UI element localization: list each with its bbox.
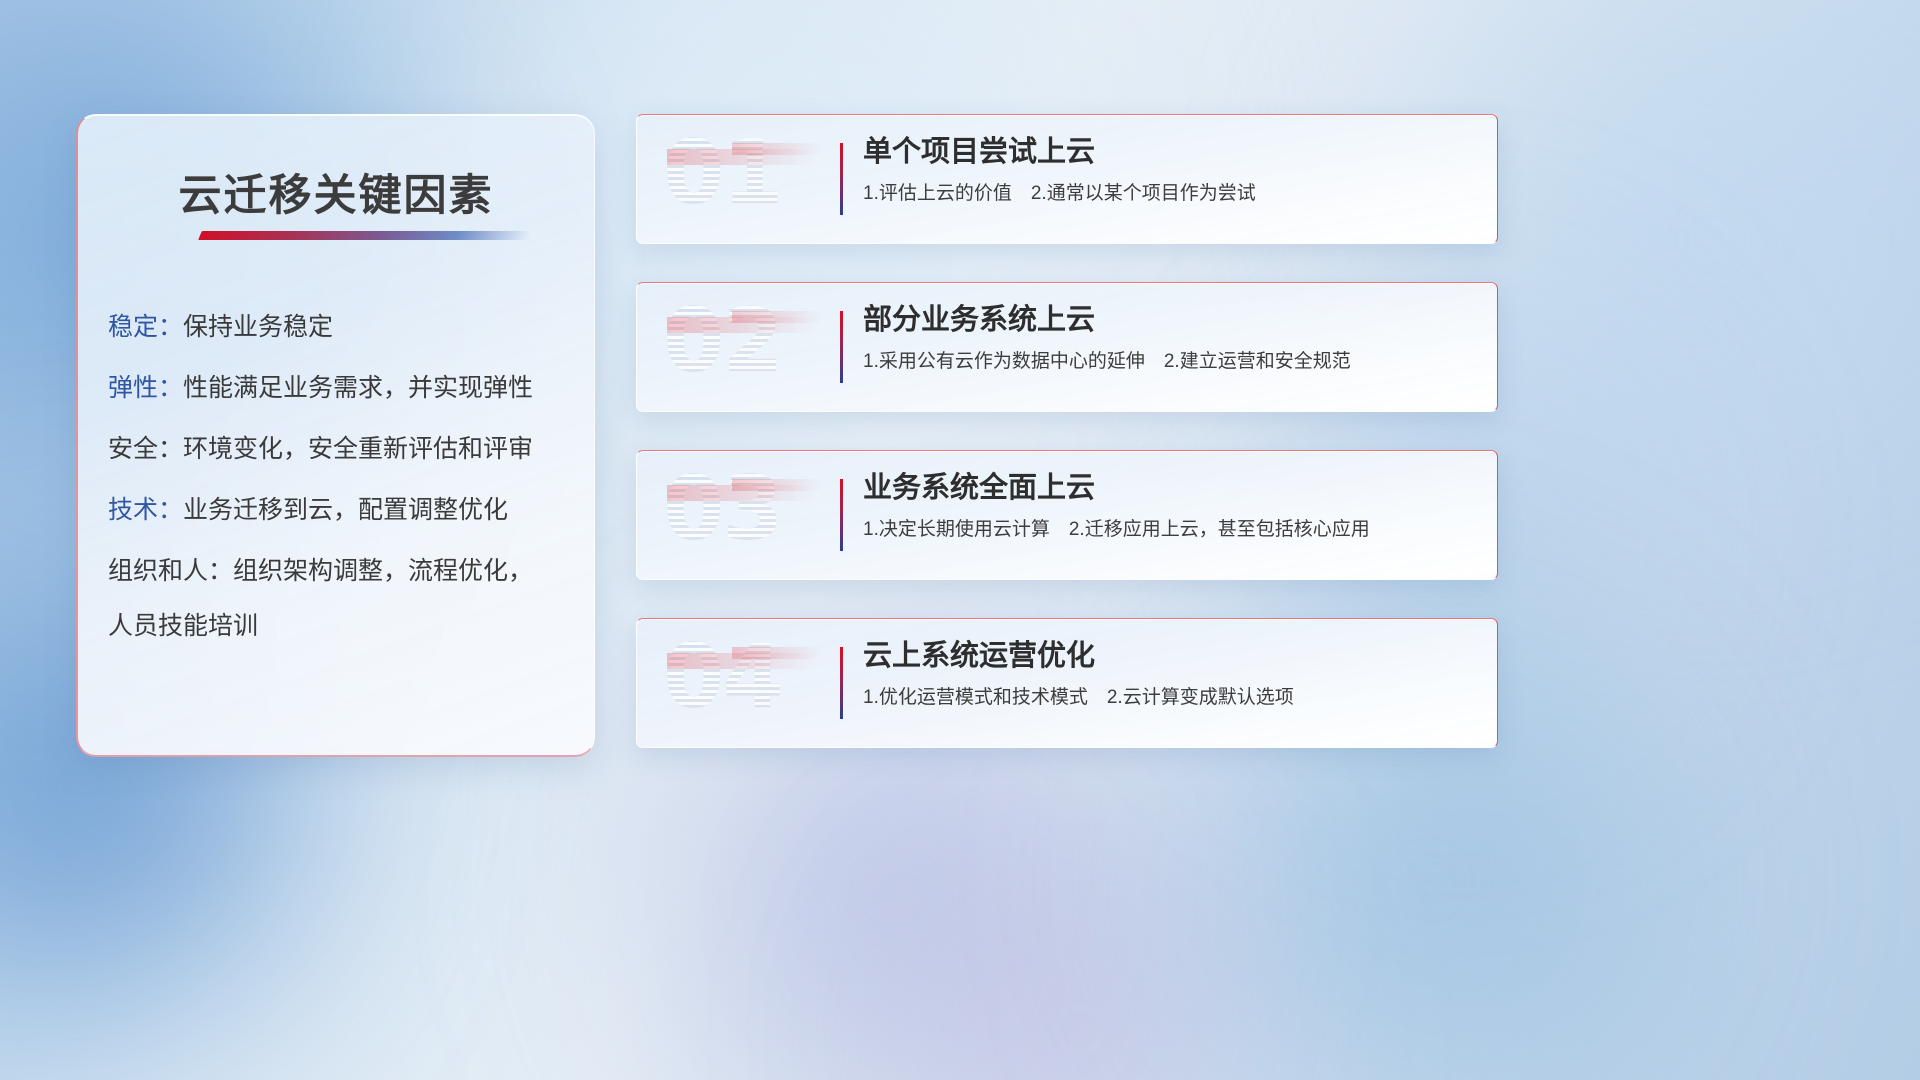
list-item: 弹性：性能满足业务需求，并实现弹性 <box>108 376 576 401</box>
card-accent-divider <box>840 143 843 215</box>
card-description: 1.评估上云的价值 2.通常以某个项目作为尝试 <box>863 183 1473 206</box>
stage-card[interactable]: 04 04 云上系统运营优化 1.优化运营模式和技术模式 2.云计算变成默认选项 <box>636 618 1498 748</box>
card-description: 1.采用公有云作为数据中心的延伸 2.建立运营和安全规范 <box>863 351 1473 374</box>
list-item: 组织和人：组织架构调整，流程优化， <box>108 559 576 584</box>
stage-card[interactable]: 03 03 业务系统全面上云 1.决定长期使用云计算 2.迁移应用上云，甚至包括… <box>636 450 1498 580</box>
factor-value-continuation: 人员技能培训 <box>108 614 576 639</box>
factor-label: 稳定： <box>108 313 183 341</box>
card-body: 部分业务系统上云 1.采用公有云作为数据中心的延伸 2.建立运营和安全规范 <box>863 305 1473 374</box>
factor-value: 保持业务稳定 <box>183 313 333 341</box>
card-description: 1.优化运营模式和技术模式 2.云计算变成默认选项 <box>863 687 1473 710</box>
stage-number-group: 02 02 <box>637 283 852 411</box>
page-title: 云迁移关键因素 <box>78 161 594 223</box>
list-item: 稳定：保持业务稳定 <box>108 315 576 340</box>
card-title: 单个项目尝试上云 <box>863 137 1473 169</box>
card-accent-divider <box>840 311 843 383</box>
list-item: 安全：环境变化，安全重新评估和评审 <box>108 437 576 462</box>
title-underline-accent <box>198 231 532 240</box>
stage-number: 02 <box>663 297 781 385</box>
factor-label: 弹性： <box>108 374 183 402</box>
factor-label: 组织和人： <box>108 557 233 585</box>
card-title: 业务系统全面上云 <box>863 473 1473 505</box>
stage-card[interactable]: 01 01 单个项目尝试上云 1.评估上云的价值 2.通常以某个项目作为尝试 <box>636 114 1498 244</box>
stage-number-group: 04 04 <box>637 619 852 747</box>
key-factors-panel: 云迁移关键因素 稳定：保持业务稳定 弹性：性能满足业务需求，并实现弹性 安全：环… <box>76 114 595 757</box>
card-body: 业务系统全面上云 1.决定长期使用云计算 2.迁移应用上云，甚至包括核心应用 <box>863 473 1473 542</box>
stage-number: 01 <box>663 129 781 217</box>
card-accent-divider <box>840 479 843 551</box>
factor-value: 组织架构调整，流程优化， <box>233 557 533 585</box>
card-description: 1.决定长期使用云计算 2.迁移应用上云，甚至包括核心应用 <box>863 519 1473 542</box>
stage-number-group: 03 03 <box>637 451 852 579</box>
stage-number: 03 <box>663 465 781 553</box>
card-accent-divider <box>840 647 843 719</box>
key-factors-list: 稳定：保持业务稳定 弹性：性能满足业务需求，并实现弹性 安全：环境变化，安全重新… <box>108 315 576 639</box>
factor-label: 安全： <box>108 435 183 463</box>
stage-cards-list: 01 01 单个项目尝试上云 1.评估上云的价值 2.通常以某个项目作为尝试 0… <box>636 114 1498 748</box>
stage-card[interactable]: 02 02 部分业务系统上云 1.采用公有云作为数据中心的延伸 2.建立运营和安… <box>636 282 1498 412</box>
factor-value: 业务迁移到云，配置调整优化 <box>183 496 508 524</box>
card-title: 部分业务系统上云 <box>863 305 1473 337</box>
factor-value: 性能满足业务需求，并实现弹性 <box>183 374 533 402</box>
card-body: 单个项目尝试上云 1.评估上云的价值 2.通常以某个项目作为尝试 <box>863 137 1473 206</box>
card-body: 云上系统运营优化 1.优化运营模式和技术模式 2.云计算变成默认选项 <box>863 641 1473 710</box>
stage-number: 04 <box>663 633 781 721</box>
stage-number-group: 01 01 <box>637 115 852 243</box>
card-title: 云上系统运营优化 <box>863 641 1473 673</box>
list-item: 技术：业务迁移到云，配置调整优化 <box>108 498 576 523</box>
factor-label: 技术： <box>108 496 183 524</box>
factor-value: 环境变化，安全重新评估和评审 <box>183 435 533 463</box>
